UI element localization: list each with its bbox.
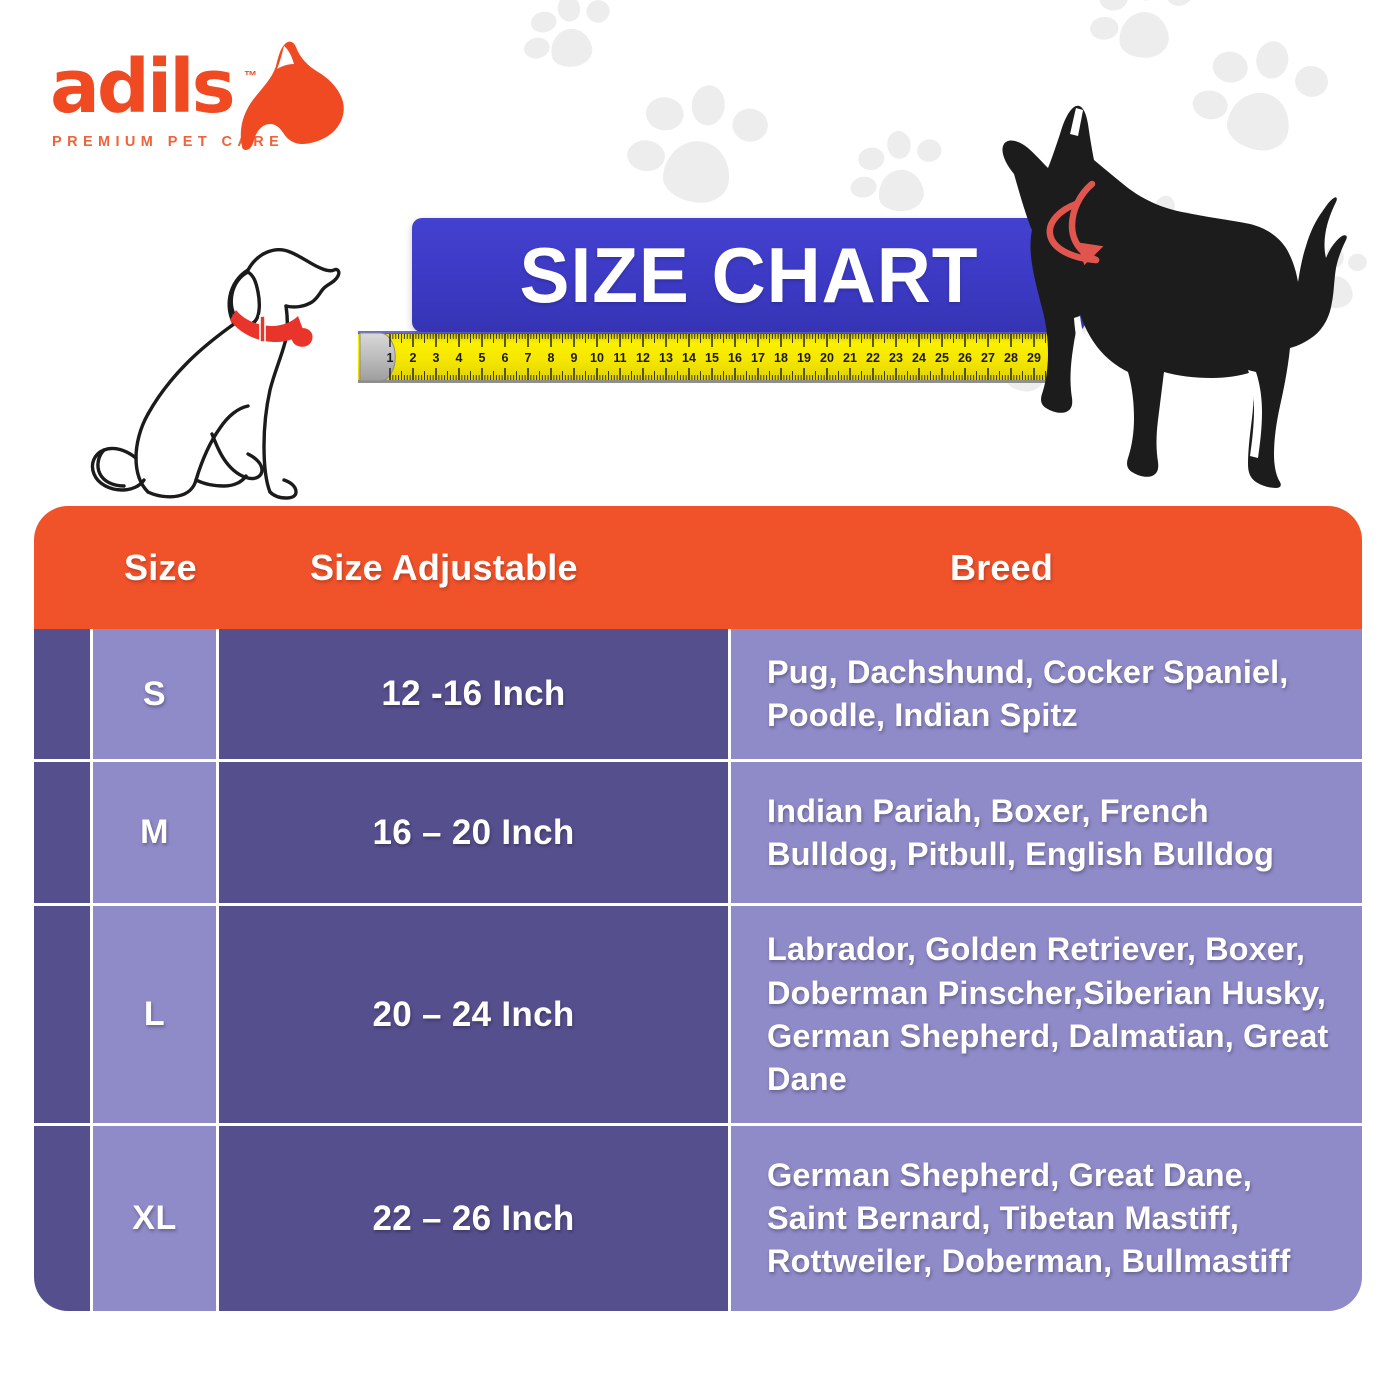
svg-text:18: 18 <box>774 351 788 365</box>
cell-adjustable: 20 – 24 Inch <box>216 906 728 1123</box>
svg-text:6: 6 <box>502 351 509 365</box>
svg-text:7: 7 <box>525 351 532 365</box>
adjustable-value: 20 – 24 Inch <box>372 995 574 1035</box>
svg-text:4: 4 <box>456 351 463 365</box>
column-header-breed: Breed <box>950 547 1053 589</box>
svg-text:2: 2 <box>410 351 417 365</box>
cell-adjustable: 22 – 26 Inch <box>216 1126 728 1311</box>
svg-text:12: 12 <box>636 351 650 365</box>
row-gutter-cell <box>34 762 90 903</box>
breed-value: German Shepherd, Great Dane, Saint Berna… <box>767 1154 1332 1284</box>
svg-text:14: 14 <box>682 351 696 365</box>
svg-text:21: 21 <box>843 351 857 365</box>
breed-value: Labrador, Golden Retriever, Boxer, Dober… <box>767 928 1332 1101</box>
svg-text:11: 11 <box>613 351 626 365</box>
svg-text:23: 23 <box>889 351 903 365</box>
size-value: L <box>144 995 165 1034</box>
table-body: S 12 -16 Inch Pug, Dachshund, Cocker Spa… <box>34 629 1362 1311</box>
breed-value: Indian Pariah, Boxer, French Bulldog, Pi… <box>767 790 1332 876</box>
row-gutter-cell <box>34 629 90 759</box>
cell-size: S <box>90 629 216 759</box>
column-header-size: Size <box>124 547 197 589</box>
cell-breed: Pug, Dachshund, Cocker Spaniel, Poodle, … <box>728 629 1362 759</box>
brand-logo: adils ™ PREMIUM PET CARE <box>48 46 348 166</box>
svg-text:10: 10 <box>590 351 604 365</box>
size-value: M <box>140 813 169 852</box>
cell-breed: German Shepherd, Great Dane, Saint Berna… <box>728 1126 1362 1311</box>
svg-text:8: 8 <box>548 351 555 365</box>
adjustable-value: 22 – 26 Inch <box>372 1199 574 1239</box>
cell-breed: Indian Pariah, Boxer, French Bulldog, Pi… <box>728 762 1362 903</box>
table-row: L 20 – 24 Inch Labrador, Golden Retrieve… <box>34 903 1362 1123</box>
svg-text:9: 9 <box>571 351 578 365</box>
row-gutter-cell <box>34 906 90 1123</box>
size-value: XL <box>132 1199 176 1238</box>
dog-outline-sitting-illustration <box>62 228 358 514</box>
row-gutter-cell <box>34 1126 90 1311</box>
cell-size: M <box>90 762 216 903</box>
brand-name: adils <box>50 50 233 124</box>
svg-text:5: 5 <box>479 351 486 365</box>
page-title: SIZE CHART <box>519 230 978 321</box>
dog-silhouette-standing-illustration <box>930 88 1366 518</box>
dog-head-logo-icon <box>224 40 349 152</box>
svg-text:17: 17 <box>751 351 765 365</box>
svg-text:16: 16 <box>728 351 742 365</box>
size-chart-infographic: adils ™ PREMIUM PET CARE <box>0 0 1400 1400</box>
cell-adjustable: 12 -16 Inch <box>216 629 728 759</box>
column-header-adjustable: Size Adjustable <box>310 547 578 589</box>
svg-text:19: 19 <box>797 351 811 365</box>
svg-text:22: 22 <box>866 351 880 365</box>
table-row: M 16 – 20 Inch Indian Pariah, Boxer, Fre… <box>34 759 1362 903</box>
breed-value: Pug, Dachshund, Cocker Spaniel, Poodle, … <box>767 651 1332 737</box>
svg-text:13: 13 <box>659 351 673 365</box>
size-chart-table: Size Size Adjustable Breed S 12 -16 Inch… <box>34 506 1362 1311</box>
adjustable-value: 12 -16 Inch <box>381 674 565 714</box>
table-row: S 12 -16 Inch Pug, Dachshund, Cocker Spa… <box>34 629 1362 759</box>
svg-text:3: 3 <box>433 351 440 365</box>
table-header-row: Size Size Adjustable Breed <box>34 506 1362 629</box>
cell-size: XL <box>90 1126 216 1311</box>
red-collar-icon <box>230 310 313 347</box>
size-value: S <box>143 675 166 714</box>
svg-text:15: 15 <box>705 351 719 365</box>
cell-size: L <box>90 906 216 1123</box>
svg-text:20: 20 <box>820 351 834 365</box>
cell-breed: Labrador, Golden Retriever, Boxer, Dober… <box>728 906 1362 1123</box>
table-row: XL 22 – 26 Inch German Shepherd, Great D… <box>34 1123 1362 1311</box>
adjustable-value: 16 – 20 Inch <box>372 813 574 853</box>
svg-text:1: 1 <box>387 351 394 365</box>
svg-text:24: 24 <box>912 351 926 365</box>
cell-adjustable: 16 – 20 Inch <box>216 762 728 903</box>
